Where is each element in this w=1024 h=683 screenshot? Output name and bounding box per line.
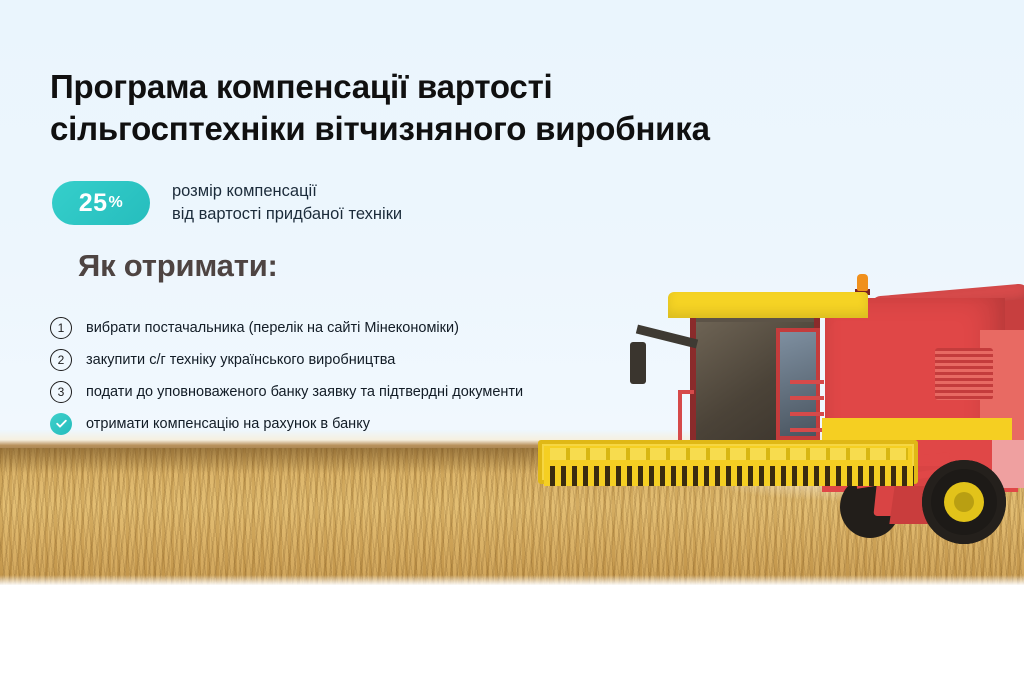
cab-roof xyxy=(668,292,868,318)
footer-bar: МІНІСТЕРСТВО ЕКОНОМІКИ УКРАЇНИ ЗРОБЛЕНО … xyxy=(0,585,1024,683)
step-marker-3: 3 xyxy=(50,381,72,403)
compensation-percent-badge: 25 % xyxy=(52,181,150,225)
title-line-1: Програма компенсації вартості xyxy=(50,66,910,108)
infographic-poster: Програма компенсації вартості сільгоспте… xyxy=(0,0,1024,683)
compensation-caption-line-1: розмір компенсації xyxy=(172,180,402,203)
check-circle-icon xyxy=(50,413,72,435)
header-cutter-bar xyxy=(544,466,914,486)
list-item: отримати компенсацію на рахунок в банку xyxy=(50,410,650,437)
badge-percent-sign: % xyxy=(109,194,124,212)
warning-beacon-icon xyxy=(857,274,868,291)
engine-grille xyxy=(935,348,993,400)
yellow-body-stripe xyxy=(822,418,1012,440)
list-item: 1 вибрати постачальника (перелік на сайт… xyxy=(50,314,650,341)
title-line-2: сільгосптехніки вітчизняного виробника xyxy=(50,108,910,150)
list-item: 2 закупити с/г техніку українського виро… xyxy=(50,346,650,373)
header-frame xyxy=(550,448,908,460)
steps-list: 1 вибрати постачальника (перелік на сайт… xyxy=(50,314,650,442)
step-text-4: отримати компенсацію на рахунок в банку xyxy=(86,416,370,432)
compensation-caption-line-2: від вартості придбаної техніки xyxy=(172,203,402,226)
step-text-2: закупити с/г техніку українського виробн… xyxy=(86,352,395,368)
compensation-caption: розмір компенсації від вартості придбано… xyxy=(172,180,402,227)
how-to-get-heading: Як отримати: xyxy=(78,248,278,284)
photo-bottom-fade xyxy=(0,575,1024,585)
step-marker-1: 1 xyxy=(50,317,72,339)
wheel-hub-center xyxy=(954,492,974,512)
badge-number: 25 xyxy=(79,189,108,218)
compensation-badge-row: 25 % розмір компенсації від вартості при… xyxy=(52,180,402,227)
step-text-3: подати до уповноваженого банку заявку та… xyxy=(86,384,523,400)
list-item: 3 подати до уповноваженого банку заявку … xyxy=(50,378,650,405)
step-marker-2: 2 xyxy=(50,349,72,371)
page-title: Програма компенсації вартості сільгоспте… xyxy=(50,66,910,150)
step-text-1: вибрати постачальника (перелік на сайті … xyxy=(86,320,459,336)
